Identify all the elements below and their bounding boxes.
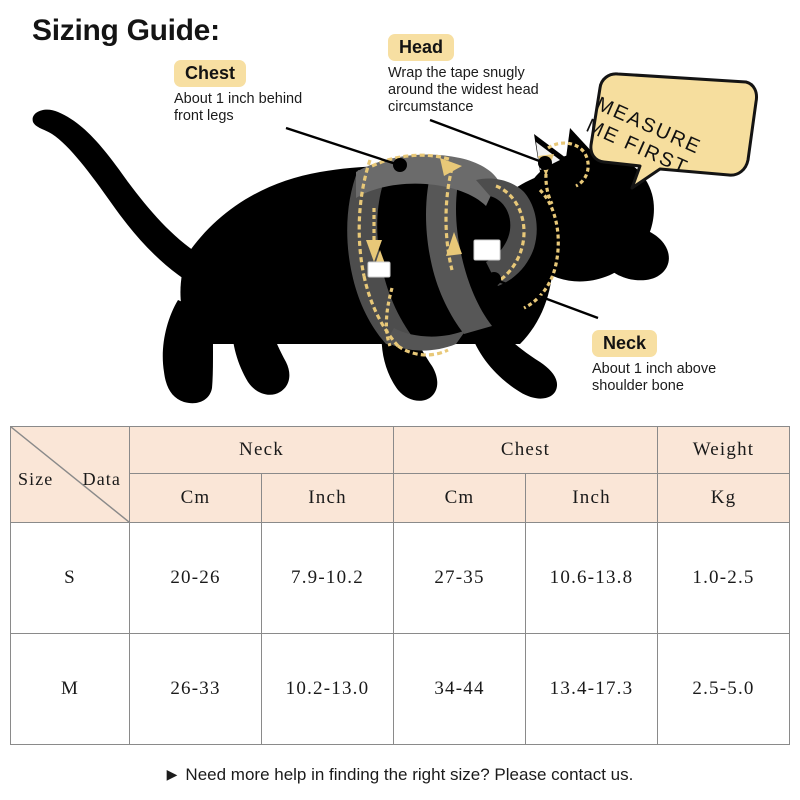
cell-neck-inch-s: 7.9-10.2 [262, 523, 394, 634]
table-header: Data Size Neck Chest Weight Cm Inch Cm I… [11, 427, 790, 523]
cell-chest-cm-m: 34-44 [394, 634, 526, 745]
table-body: S 20-26 7.9-10.2 27-35 10.6-13.8 1.0-2.5… [11, 523, 790, 745]
header-group-weight: Weight [658, 427, 790, 474]
neck-badge-label: Neck [592, 330, 657, 357]
header-unit-neck-inch: Inch [262, 474, 394, 523]
size-chart-table: Data Size Neck Chest Weight Cm Inch Cm I… [10, 426, 790, 745]
cell-size-m: M [11, 634, 130, 745]
table-row: S 20-26 7.9-10.2 27-35 10.6-13.8 1.0-2.5 [11, 523, 790, 634]
cell-neck-cm-m: 26-33 [130, 634, 262, 745]
corner-size-data-cell: Data Size [11, 427, 130, 523]
footer-note: ▶Need more help in finding the right siz… [0, 765, 800, 785]
cell-chest-inch-m: 13.4-17.3 [526, 634, 658, 745]
chest-description: About 1 inch behind front legs [174, 91, 302, 125]
cell-neck-inch-m: 10.2-13.0 [262, 634, 394, 745]
header-unit-chest-inch: Inch [526, 474, 658, 523]
cell-chest-inch-s: 10.6-13.8 [526, 523, 658, 634]
header-unit-weight-kg: Kg [658, 474, 790, 523]
header-group-neck: Neck [130, 427, 394, 474]
callout-chest: Chest About 1 inch behind front legs [174, 60, 302, 125]
corner-size-label: Size [18, 469, 53, 490]
footer-text: Need more help in finding the right size… [185, 765, 633, 784]
corner-data-label: Data [83, 469, 121, 490]
speech-bubble: MEASURE ME FIRST [588, 68, 760, 190]
neck-description: About 1 inch above shoulder bone [592, 361, 716, 395]
speech-bubble-shape [591, 74, 757, 188]
table-header-row-groups: Data Size Neck Chest Weight [11, 427, 790, 474]
head-description: Wrap the tape snugly around the widest h… [388, 65, 539, 116]
cell-neck-cm-s: 20-26 [130, 523, 262, 634]
header-unit-chest-cm: Cm [394, 474, 526, 523]
callout-head: Head Wrap the tape snugly around the wid… [388, 34, 539, 116]
table-row: M 26-33 10.2-13.0 34-44 13.4-17.3 2.5-5.… [11, 634, 790, 745]
cell-chest-cm-s: 27-35 [394, 523, 526, 634]
cell-weight-kg-m: 2.5-5.0 [658, 634, 790, 745]
callout-neck: Neck About 1 inch above shoulder bone [592, 330, 716, 395]
head-badge-label: Head [388, 34, 454, 61]
header-unit-neck-cm: Cm [130, 474, 262, 523]
header-group-chest: Chest [394, 427, 658, 474]
cell-weight-kg-s: 1.0-2.5 [658, 523, 790, 634]
chest-badge-label: Chest [174, 60, 246, 87]
triangle-marker-icon: ▶ [167, 766, 178, 783]
cell-size-s: S [11, 523, 130, 634]
